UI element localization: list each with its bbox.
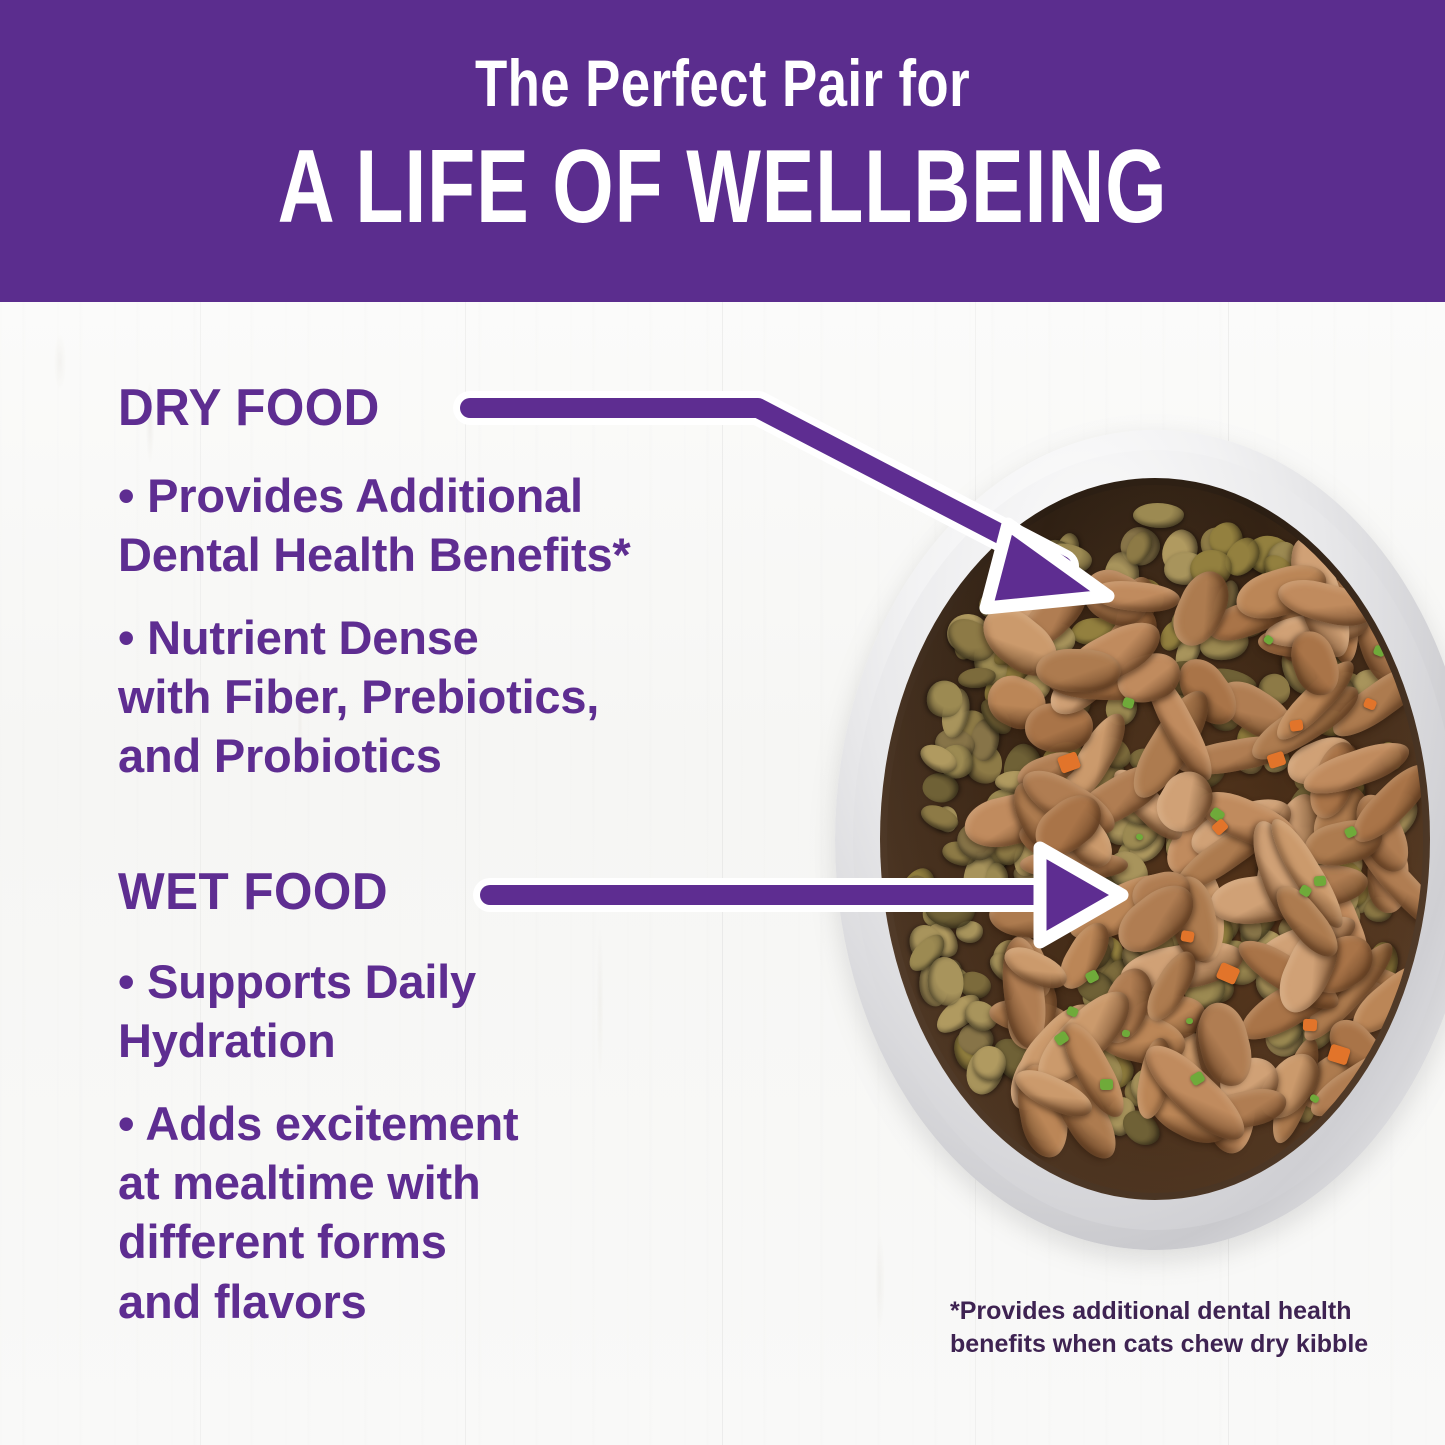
carrot-piece bbox=[1180, 930, 1195, 943]
carrot-piece bbox=[1387, 1027, 1408, 1045]
kibble-piece bbox=[1133, 503, 1184, 529]
section-title-wet-food: WET FOOD bbox=[118, 862, 388, 922]
bullet-line: • Provides Additional bbox=[118, 466, 631, 525]
bullet-line: • Nutrient Dense bbox=[118, 608, 599, 667]
dry-food-bullet-2: • Nutrient Dense with Fiber, Prebiotics,… bbox=[118, 608, 599, 786]
section-title-dry-food: DRY FOOD bbox=[118, 378, 380, 438]
bullet-line: • Supports Daily bbox=[118, 952, 476, 1011]
bullet-line: and Probiotics bbox=[118, 726, 599, 785]
kibble-piece bbox=[917, 801, 962, 836]
food-contents bbox=[887, 485, 1423, 1193]
footnote-line-2: benefits when cats chew dry kibble bbox=[950, 1328, 1380, 1361]
wet-food-bullet-1: • Supports Daily Hydration bbox=[118, 952, 476, 1070]
bullet-line: different forms bbox=[118, 1212, 518, 1271]
footnote-line-1: *Provides additional dental health bbox=[950, 1295, 1380, 1328]
wet-food-piece bbox=[1036, 648, 1122, 692]
bullet-line: Hydration bbox=[118, 1011, 476, 1070]
header-banner: The Perfect Pair for A LIFE OF WELLBEING bbox=[0, 0, 1445, 302]
banner-title: A LIFE OF WELLBEING bbox=[173, 128, 1271, 247]
footnote-text: *Provides additional dental health benef… bbox=[950, 1295, 1380, 1360]
carrot-piece bbox=[1303, 1019, 1317, 1031]
pea-piece bbox=[1186, 1018, 1193, 1024]
marketing-infographic: The Perfect Pair for A LIFE OF WELLBEING… bbox=[0, 0, 1445, 1445]
food-bowl-image bbox=[835, 430, 1445, 1260]
bullet-line: • Adds excitement bbox=[118, 1094, 518, 1153]
wet-food-bullet-2: • Adds excitement at mealtime with diffe… bbox=[118, 1094, 518, 1331]
bullet-line: Dental Health Benefits* bbox=[118, 525, 631, 584]
kibble-piece bbox=[984, 862, 1008, 898]
dry-food-bullet-1: • Provides Additional Dental Health Bene… bbox=[118, 466, 631, 584]
bullet-line: with Fiber, Prebiotics, bbox=[118, 667, 599, 726]
bullet-line: and flavors bbox=[118, 1272, 518, 1331]
pea-piece bbox=[1314, 875, 1327, 886]
carrot-piece bbox=[1289, 719, 1304, 732]
bullet-line: at mealtime with bbox=[118, 1153, 518, 1212]
pea-piece bbox=[1100, 1079, 1113, 1090]
banner-subtitle: The Perfect Pair for bbox=[145, 45, 1301, 121]
